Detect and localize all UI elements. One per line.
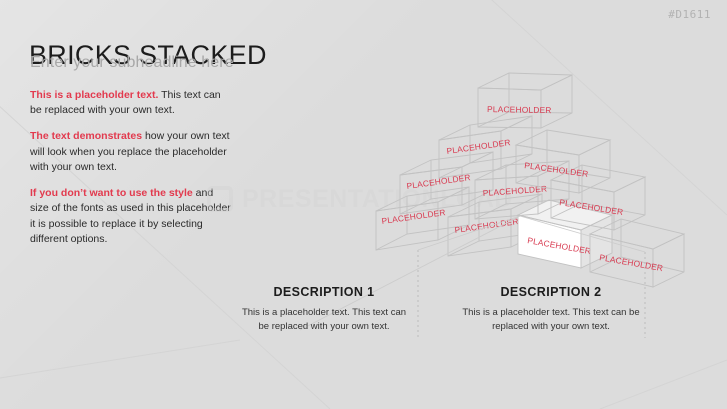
brick-row3-brick1[interactable]: PLACEHOLDER [439,116,532,178]
slide-canvas: #D1611 BRICKS STACKED Enter your subhead… [0,0,727,409]
description-2-body[interactable]: This is a placeholder text. This text ca… [462,306,640,334]
brick-label: PLACEHOLDER [381,207,446,226]
brick-row1-brick1[interactable]: PLACEHOLDER [376,187,469,250]
description-2: DESCRIPTION 2 This is a placeholder text… [462,285,640,334]
brick-label: PLACEHOLDER [454,216,519,235]
description-1: DESCRIPTION 1 This is a placeholder text… [236,285,412,334]
bricks-pyramid-diagram: PLACEHOLDER PLACEHOLDER PLACEHOLDER [0,0,727,409]
description-1-title: DESCRIPTION 1 [236,285,412,299]
description-1-body[interactable]: This is a placeholder text. This text ca… [236,306,412,334]
brick-label: PLACEHOLDER [599,252,664,273]
description-2-title: DESCRIPTION 2 [462,285,640,299]
brick-label: PLACEHOLDER [487,104,552,115]
